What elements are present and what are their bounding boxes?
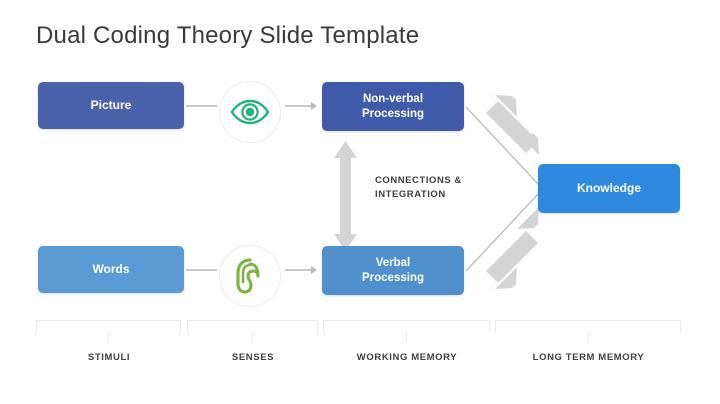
box-words-label: Words bbox=[92, 262, 129, 277]
box-words[interactable]: Words bbox=[38, 246, 184, 293]
axis-label-long-term-memory: LONG TERM MEMORY bbox=[496, 352, 681, 363]
connections-integration-caption: CONNECTIONS & INTEGRATION bbox=[375, 174, 505, 202]
connector-eye-to-nonverbal-arrowhead bbox=[311, 102, 317, 110]
box-nonverbal-line2: Processing bbox=[362, 107, 424, 121]
connector-picture-to-eye bbox=[186, 105, 217, 107]
axis-label-working-memory: WORKING MEMORY bbox=[324, 352, 490, 363]
double-arrow-upper-right bbox=[486, 95, 539, 155]
box-knowledge[interactable]: Knowledge bbox=[538, 164, 680, 213]
bracket-tick-senses bbox=[252, 332, 253, 342]
double-arrow-lower-right bbox=[486, 207, 539, 289]
axis-label-stimuli: STIMULI bbox=[38, 352, 180, 363]
slide-canvas: Dual Coding Theory Slide Template Pictur… bbox=[0, 0, 720, 404]
box-knowledge-label: Knowledge bbox=[577, 181, 641, 196]
axis-label-senses: SENSES bbox=[188, 352, 318, 363]
box-verbal-processing[interactable]: Verbal Processing bbox=[322, 246, 464, 295]
connector-ear-to-verbal-arrowhead bbox=[311, 266, 317, 274]
page-title: Dual Coding Theory Slide Template bbox=[36, 22, 419, 50]
box-picture[interactable]: Picture bbox=[38, 82, 184, 129]
eye-icon bbox=[230, 99, 270, 125]
bracket-tick-long-term-memory bbox=[588, 332, 589, 342]
bracket-tick-working-memory bbox=[406, 332, 407, 342]
box-verbal-line1: Verbal bbox=[362, 256, 424, 270]
caption-line2: INTEGRATION bbox=[375, 188, 505, 202]
connector-eye-to-nonverbal bbox=[285, 105, 311, 107]
sense-circle-ear[interactable] bbox=[219, 245, 281, 307]
double-arrow-vertical-center bbox=[334, 141, 357, 251]
connector-ear-to-verbal bbox=[285, 269, 311, 271]
box-nonverbal-line1: Non-verbal bbox=[362, 92, 424, 106]
caption-line1: CONNECTIONS & bbox=[375, 174, 505, 188]
box-nonverbal-processing[interactable]: Non-verbal Processing bbox=[322, 82, 464, 131]
thin-line-verbal-to-knowledge bbox=[466, 192, 540, 271]
box-picture-label: Picture bbox=[91, 98, 132, 113]
connector-words-to-ear bbox=[186, 269, 217, 271]
bracket-tick-stimuli bbox=[108, 332, 109, 342]
sense-circle-eye[interactable] bbox=[219, 81, 281, 143]
box-verbal-line2: Processing bbox=[362, 271, 424, 285]
ear-icon bbox=[235, 258, 265, 294]
